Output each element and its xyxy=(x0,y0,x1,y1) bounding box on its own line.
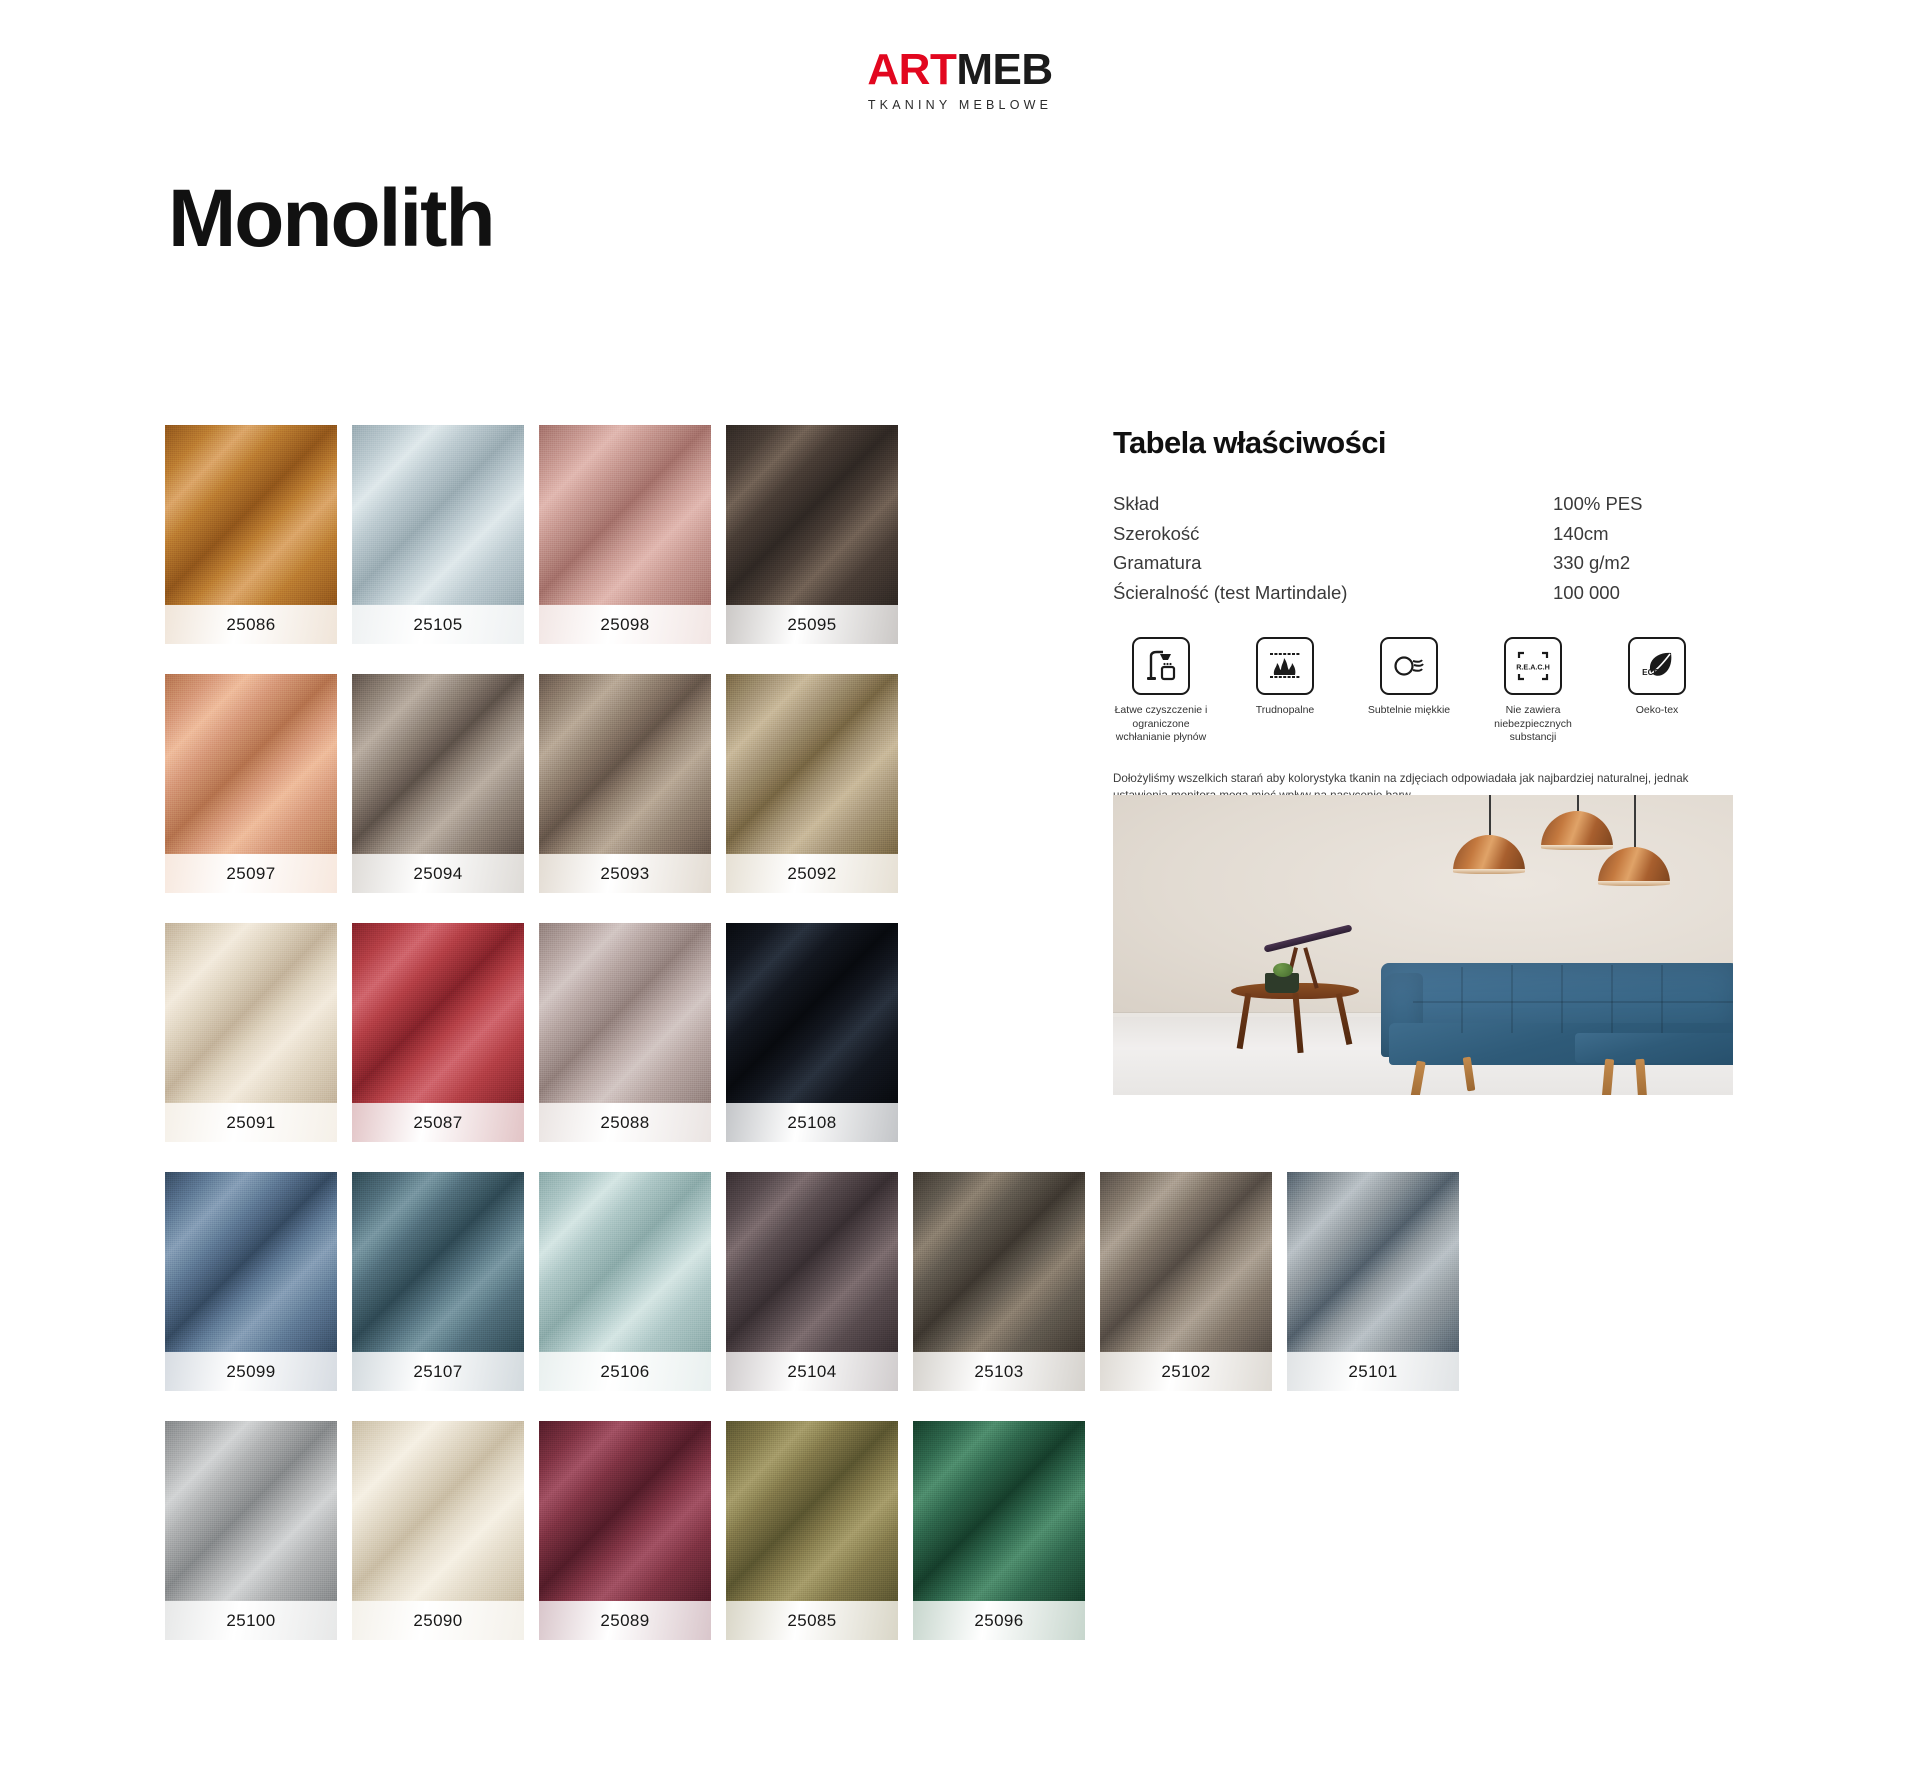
property-row: Skład100% PES xyxy=(1113,489,1733,519)
fabric-swatch[interactable]: 25087 xyxy=(352,923,524,1142)
pendant-lamp-left xyxy=(1453,835,1525,871)
fabric-swatch-image[interactable] xyxy=(539,923,711,1103)
fabric-swatch[interactable]: 25089 xyxy=(539,1421,711,1640)
plant-foliage xyxy=(1273,963,1293,977)
feature-icon-caption: Subtelnie miękkie xyxy=(1361,704,1457,718)
fabric-swatch[interactable]: 25090 xyxy=(352,1421,524,1640)
fabric-swatch[interactable]: 25086 xyxy=(165,425,337,644)
brand-logo: ARTMEB TKANINY MEBLOWE xyxy=(0,48,1920,112)
swatch-code-label: 25090 xyxy=(352,1601,524,1640)
fabric-weave-texture xyxy=(726,425,898,605)
fabric-weave-texture xyxy=(352,1172,524,1352)
sofa-tuft-line xyxy=(1611,965,1613,1033)
fabric-swatch-image[interactable] xyxy=(726,425,898,605)
fabric-swatch[interactable]: 25095 xyxy=(726,425,898,644)
fabric-swatch[interactable]: 25106 xyxy=(539,1172,711,1391)
fabric-swatch[interactable]: 25093 xyxy=(539,674,711,893)
fabric-swatch[interactable]: 25107 xyxy=(352,1172,524,1391)
swatch-code-label: 25092 xyxy=(726,854,898,893)
logo-art-text: ART xyxy=(867,45,956,94)
fabric-swatch-image[interactable] xyxy=(726,1172,898,1352)
feature-icon-caption: Oeko-tex xyxy=(1609,704,1705,718)
feature-icon-caption: Łatwe czyszczenie i ograniczone wchłania… xyxy=(1113,704,1209,745)
fabric-weave-texture xyxy=(165,425,337,605)
feature-icon-caption: Nie zawiera niebezpiecznych substancji xyxy=(1485,704,1581,745)
feature-icon-cell: Łatwe czyszczenie i ograniczone wchłania… xyxy=(1113,637,1209,745)
sofa-tuft-line xyxy=(1461,967,1463,1033)
fabric-weave-texture xyxy=(726,1421,898,1601)
fabric-swatch-image[interactable] xyxy=(352,1421,524,1601)
property-label: Skład xyxy=(1113,489,1543,519)
swatch-code-label: 25089 xyxy=(539,1601,711,1640)
sofa-tuft-line xyxy=(1661,965,1663,1033)
properties-heading: Tabela właściwości xyxy=(1113,425,1733,461)
swatch-code-label: 25088 xyxy=(539,1103,711,1142)
logo-wordmark: ARTMEB xyxy=(0,48,1920,92)
swatch-code-label: 25086 xyxy=(165,605,337,644)
fabric-swatch[interactable]: 25100 xyxy=(165,1421,337,1640)
fabric-weave-texture xyxy=(539,1172,711,1352)
fabric-swatch-image[interactable] xyxy=(165,1172,337,1352)
property-value: 140cm xyxy=(1543,519,1733,549)
sofa-bench xyxy=(1575,1033,1733,1063)
fabric-weave-texture xyxy=(539,923,711,1103)
swatch-code-label: 25107 xyxy=(352,1352,524,1391)
fabric-weave-texture xyxy=(539,1421,711,1601)
fabric-swatch[interactable]: 25105 xyxy=(352,425,524,644)
property-label: Gramatura xyxy=(1113,548,1543,578)
interior-photo xyxy=(1113,795,1733,1095)
fabric-swatch[interactable]: 25091 xyxy=(165,923,337,1142)
fabric-swatch-image[interactable] xyxy=(1100,1172,1272,1352)
swatch-code-label: 25098 xyxy=(539,605,711,644)
feature-icon-row: Łatwe czyszczenie i ograniczone wchłania… xyxy=(1113,637,1733,745)
fabric-swatch[interactable]: 25102 xyxy=(1100,1172,1272,1391)
fabric-swatch[interactable]: 25096 xyxy=(913,1421,1085,1640)
swatch-code-label: 25104 xyxy=(726,1352,898,1391)
property-row: Szerokość140cm xyxy=(1113,519,1733,549)
swatch-row: 2510025090250892508525096 xyxy=(165,1421,1495,1640)
feature-icon-cell: ECOOeko-tex xyxy=(1609,637,1705,745)
logo-tagline: TKANINY MEBLOWE xyxy=(0,98,1920,112)
fabric-weave-texture xyxy=(913,1421,1085,1601)
fabric-swatch-image[interactable] xyxy=(539,674,711,854)
fabric-swatch[interactable]: 25103 xyxy=(913,1172,1085,1391)
fabric-swatch-image[interactable] xyxy=(913,1421,1085,1601)
sofa-tuft-line xyxy=(1511,965,1513,1033)
page-title: Monolith xyxy=(168,178,494,260)
soft-touch-icon xyxy=(1380,637,1438,695)
fabric-weave-texture xyxy=(539,425,711,605)
lamp-cord xyxy=(1489,795,1491,835)
reach-icon: R.E.A.C.H xyxy=(1504,637,1562,695)
fabric-swatch-image[interactable] xyxy=(913,1172,1085,1352)
fabric-weave-texture xyxy=(165,1172,337,1352)
fabric-swatch[interactable]: 25099 xyxy=(165,1172,337,1391)
swatch-code-label: 25095 xyxy=(726,605,898,644)
fabric-weave-texture xyxy=(1287,1172,1459,1352)
swatch-code-label: 25102 xyxy=(1100,1352,1272,1391)
fabric-weave-texture xyxy=(352,674,524,854)
swatch-row: 25099251072510625104251032510225101 xyxy=(165,1172,1495,1391)
property-value: 100 000 xyxy=(1543,578,1733,608)
swatch-code-label: 25091 xyxy=(165,1103,337,1142)
flame-icon xyxy=(1256,637,1314,695)
fabric-swatch[interactable]: 25098 xyxy=(539,425,711,644)
property-row: Ścieralność (test Martindale)100 000 xyxy=(1113,578,1733,608)
property-value: 330 g/m2 xyxy=(1543,548,1733,578)
shower-cleaning-icon xyxy=(1132,637,1190,695)
svg-text:R.E.A.C.H: R.E.A.C.H xyxy=(1516,663,1550,672)
fabric-weave-texture xyxy=(352,425,524,605)
lamp-dome xyxy=(1453,835,1525,871)
fabric-swatch[interactable]: 25097 xyxy=(165,674,337,893)
fabric-weave-texture xyxy=(352,923,524,1103)
fabric-weave-texture xyxy=(1100,1172,1272,1352)
swatch-code-label: 25085 xyxy=(726,1601,898,1640)
swatch-code-label: 25093 xyxy=(539,854,711,893)
swatch-code-label: 25100 xyxy=(165,1601,337,1640)
fabric-swatch-image[interactable] xyxy=(352,923,524,1103)
fabric-swatch-image[interactable] xyxy=(539,1421,711,1601)
fabric-swatch-image[interactable] xyxy=(352,425,524,605)
fabric-swatch-image[interactable] xyxy=(165,425,337,605)
lamp-cord xyxy=(1634,795,1636,847)
fabric-weave-texture xyxy=(165,674,337,854)
properties-panel: Tabela właściwości Skład100% PESSzerokoś… xyxy=(1113,425,1733,837)
feature-icon-cell: Subtelnie miękkie xyxy=(1361,637,1457,745)
swatch-code-label: 25094 xyxy=(352,854,524,893)
swatch-code-label: 25097 xyxy=(165,854,337,893)
swatch-code-label: 25105 xyxy=(352,605,524,644)
swatch-code-label: 25101 xyxy=(1287,1352,1459,1391)
sofa-tuft-line xyxy=(1561,965,1563,1033)
fabric-swatch[interactable]: 25101 xyxy=(1287,1172,1459,1391)
fabric-swatch-image[interactable] xyxy=(352,674,524,854)
swatch-code-label: 25087 xyxy=(352,1103,524,1142)
pendant-lamp-right xyxy=(1598,847,1670,883)
properties-table: Skład100% PESSzerokość140cmGramatura330 … xyxy=(1113,489,1733,607)
fabric-weave-texture xyxy=(539,674,711,854)
fabric-swatch-image[interactable] xyxy=(165,1421,337,1601)
fabric-weave-texture xyxy=(913,1172,1085,1352)
fabric-weave-texture xyxy=(165,923,337,1103)
fabric-weave-texture xyxy=(352,1421,524,1601)
lamp-cord xyxy=(1577,795,1579,811)
fabric-swatch[interactable]: 25108 xyxy=(726,923,898,1142)
property-value: 100% PES xyxy=(1543,489,1733,519)
fabric-swatch[interactable]: 25092 xyxy=(726,674,898,893)
lamp-dome xyxy=(1541,811,1613,847)
fabric-swatch-image[interactable] xyxy=(726,674,898,854)
swatch-code-label: 25108 xyxy=(726,1103,898,1142)
property-label: Szerokość xyxy=(1113,519,1543,549)
feature-icon-cell: Trudnopalne xyxy=(1237,637,1333,745)
pendant-lamp-middle xyxy=(1541,811,1613,847)
fabric-swatch-image[interactable] xyxy=(726,1421,898,1601)
fabric-weave-texture xyxy=(726,923,898,1103)
fabric-weave-texture xyxy=(726,674,898,854)
swatch-code-label: 25103 xyxy=(913,1352,1085,1391)
fabric-swatch-image[interactable] xyxy=(726,923,898,1103)
property-row: Gramatura330 g/m2 xyxy=(1113,548,1733,578)
fabric-swatch[interactable]: 25088 xyxy=(539,923,711,1142)
fabric-swatch-image[interactable] xyxy=(352,1172,524,1352)
property-label: Ścieralność (test Martindale) xyxy=(1113,578,1543,608)
feature-icon-caption: Trudnopalne xyxy=(1237,704,1333,718)
swatch-code-label: 25096 xyxy=(913,1601,1085,1640)
fabric-swatch[interactable]: 25094 xyxy=(352,674,524,893)
fabric-swatch-image[interactable] xyxy=(165,674,337,854)
swatch-code-label: 25099 xyxy=(165,1352,337,1391)
fabric-weave-texture xyxy=(165,1421,337,1601)
swatch-code-label: 25106 xyxy=(539,1352,711,1391)
svg-text:ECO: ECO xyxy=(1642,668,1660,677)
logo-meb-text: MEB xyxy=(956,45,1052,94)
fabric-swatch-image[interactable] xyxy=(1287,1172,1459,1352)
fabric-swatch[interactable]: 25085 xyxy=(726,1421,898,1640)
lamp-dome xyxy=(1598,847,1670,883)
fabric-weave-texture xyxy=(726,1172,898,1352)
fabric-swatch[interactable]: 25104 xyxy=(726,1172,898,1391)
feature-icon-cell: R.E.A.C.HNie zawiera niebezpiecznych sub… xyxy=(1485,637,1581,745)
fabric-swatch-image[interactable] xyxy=(539,425,711,605)
fabric-swatch-image[interactable] xyxy=(539,1172,711,1352)
fabric-swatch-image[interactable] xyxy=(165,923,337,1103)
eco-leaf-icon: ECO xyxy=(1628,637,1686,695)
